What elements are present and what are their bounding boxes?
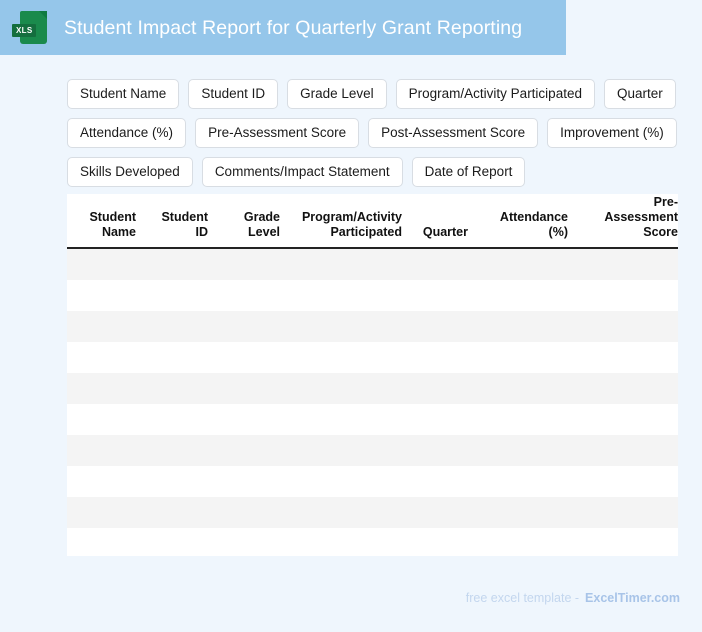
table-row[interactable] [67,528,678,556]
table-cell[interactable] [67,466,145,497]
table-cell[interactable] [67,404,145,435]
field-chip[interactable]: Student ID [188,79,278,109]
page-title: Student Impact Report for Quarterly Gran… [64,16,522,40]
table-cell[interactable] [477,404,577,435]
table-row[interactable] [67,311,678,342]
table-cell[interactable] [577,280,678,311]
table-cell[interactable] [289,528,411,556]
table-cell[interactable] [477,311,577,342]
table-row[interactable] [67,497,678,528]
table-cell[interactable] [145,373,217,404]
table-cell[interactable] [411,528,477,556]
column-header[interactable]: Attendance (%) [477,194,577,248]
table-cell[interactable] [411,373,477,404]
field-chip[interactable]: Grade Level [287,79,387,109]
table-cell[interactable] [145,497,217,528]
table-cell[interactable] [577,404,678,435]
table-cell[interactable] [145,404,217,435]
field-chip[interactable]: Skills Developed [67,157,193,187]
table-cell[interactable] [577,528,678,556]
table-cell[interactable] [67,342,145,373]
field-chip[interactable]: Post-Assessment Score [368,118,538,148]
table-cell[interactable] [289,373,411,404]
table-cell[interactable] [477,248,577,280]
table-cell[interactable] [145,528,217,556]
table-cell[interactable] [411,435,477,466]
table-cell[interactable] [577,373,678,404]
table-cell[interactable] [477,342,577,373]
table-cell[interactable] [289,404,411,435]
table-row[interactable] [67,466,678,497]
table-cell[interactable] [577,311,678,342]
table-cell[interactable] [477,528,577,556]
table-cell[interactable] [477,435,577,466]
field-chip[interactable]: Date of Report [412,157,526,187]
table-cell[interactable] [67,435,145,466]
table-cell[interactable] [67,311,145,342]
table-cell[interactable] [217,373,289,404]
table-cell[interactable] [577,435,678,466]
column-header[interactable]: Student ID [145,194,217,248]
field-chip[interactable]: Student Name [67,79,179,109]
table-cell[interactable] [67,373,145,404]
field-chip[interactable]: Comments/Impact Statement [202,157,403,187]
table-cell[interactable] [477,373,577,404]
table-cell[interactable] [289,248,411,280]
table-cell[interactable] [411,497,477,528]
table-cell[interactable] [411,342,477,373]
table-header-row: Student NameStudent IDGrade LevelProgram… [67,194,678,248]
table-cell[interactable] [145,280,217,311]
table-cell[interactable] [289,497,411,528]
xls-icon-fold [39,11,47,19]
xls-icon-label: XLS [12,24,36,37]
table-cell[interactable] [145,248,217,280]
table-cell[interactable] [67,248,145,280]
table-cell[interactable] [217,466,289,497]
table-cell[interactable] [577,497,678,528]
table-cell[interactable] [289,466,411,497]
table-row[interactable] [67,280,678,311]
table-cell[interactable] [577,342,678,373]
table-cell[interactable] [145,435,217,466]
table-cell[interactable] [217,435,289,466]
table-row[interactable] [67,435,678,466]
table-cell[interactable] [217,528,289,556]
table-row[interactable] [67,404,678,435]
table-cell[interactable] [145,466,217,497]
table-cell[interactable] [67,497,145,528]
table-header: Student NameStudent IDGrade LevelProgram… [67,194,678,248]
table-cell[interactable] [289,435,411,466]
column-header[interactable]: Quarter [411,194,477,248]
app-header-bar: XLS Student Impact Report for Quarterly … [0,0,566,55]
table-row[interactable] [67,342,678,373]
field-chip[interactable]: Improvement (%) [547,118,677,148]
table-cell[interactable] [145,311,217,342]
table-cell[interactable] [477,280,577,311]
table-cell[interactable] [411,466,477,497]
table-cell[interactable] [289,311,411,342]
table-cell[interactable] [411,280,477,311]
data-table-container[interactable]: Student NameStudent IDGrade LevelProgram… [67,194,678,556]
table-cell[interactable] [67,280,145,311]
table-cell[interactable] [411,404,477,435]
footer-free-text: free excel template - [466,591,579,605]
field-chip-list: Student NameStudent IDGrade LevelProgram… [67,79,697,187]
table-cell[interactable] [217,342,289,373]
column-header[interactable]: Pre-Assessment Score [577,194,678,248]
table-cell[interactable] [217,497,289,528]
footer-credit: free excel template -ExcelTimer.com [466,590,680,606]
field-chip[interactable]: Attendance (%) [67,118,186,148]
table-cell[interactable] [411,311,477,342]
table-row[interactable] [67,248,678,280]
table-cell[interactable] [577,248,678,280]
column-header[interactable]: Program/Activity Participated [289,194,411,248]
column-header[interactable]: Student Name [67,194,145,248]
field-chip[interactable]: Quarter [604,79,676,109]
table-body [67,248,678,556]
xls-file-icon: XLS [20,11,47,44]
footer-brand-link[interactable]: ExcelTimer.com [585,591,680,605]
table-cell[interactable] [217,248,289,280]
table-row[interactable] [67,373,678,404]
table-cell[interactable] [477,497,577,528]
table-cell[interactable] [411,248,477,280]
field-chip[interactable]: Program/Activity Participated [396,79,595,109]
table-cell[interactable] [289,342,411,373]
table-cell[interactable] [217,404,289,435]
data-table: Student NameStudent IDGrade LevelProgram… [67,194,678,556]
table-cell[interactable] [477,466,577,497]
table-cell[interactable] [289,280,411,311]
table-cell[interactable] [217,311,289,342]
table-cell[interactable] [577,466,678,497]
table-cell[interactable] [145,342,217,373]
field-chip[interactable]: Pre-Assessment Score [195,118,359,148]
table-cell[interactable] [67,528,145,556]
table-cell[interactable] [217,280,289,311]
column-header[interactable]: Grade Level [217,194,289,248]
